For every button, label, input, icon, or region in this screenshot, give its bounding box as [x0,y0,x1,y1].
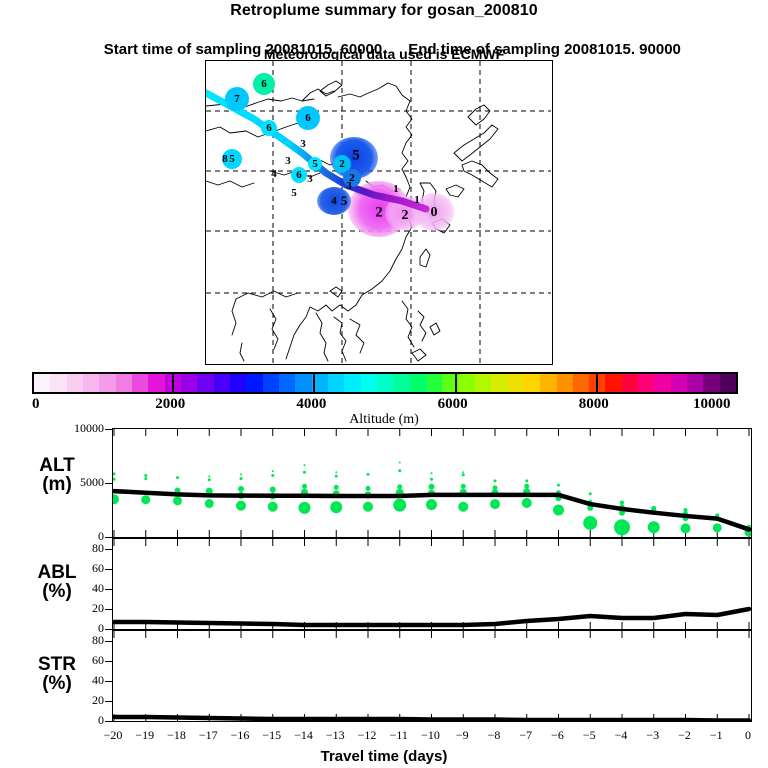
alt-label-top: ALT [8,456,106,475]
y-tick-label: 5000 [62,475,104,490]
altitude-bubble [270,486,276,492]
y-tick-mark [105,641,112,642]
map-day-marker: 6 [296,106,320,130]
y-tick-label: 40 [62,673,104,688]
x-tick-label: −3 [638,728,668,743]
map-day-label: 0 [431,205,438,221]
x-tick-label: −8 [479,728,509,743]
map-day-label: 3 [307,173,313,185]
colorbar-tick-label: 6000 [438,396,468,413]
x-tick-label: −13 [320,728,350,743]
altitude-bubble [399,461,401,463]
map-day-label: 5 [352,148,360,165]
altitude-bubble [205,499,214,508]
altitude-bubble [557,484,560,487]
y-tick-label: 20 [62,693,104,708]
map-day-label: 2 [375,205,383,222]
map-day-label: 3 [285,155,291,167]
y-tick-mark [105,569,112,570]
altitude-bubble [240,473,242,475]
map-day-label: 8 [222,153,228,165]
altitude-bubble [113,472,116,475]
map-day-marker: 5 [308,157,322,171]
altitude-bubble [620,500,624,504]
altitude-bubble [651,506,656,511]
altitude-bubble [681,523,691,533]
altitude-bubble [335,474,338,477]
y-tick-mark [105,701,112,702]
altitude-bubble [299,502,311,514]
altitude-bubble [614,519,630,535]
altitude-bubble [461,484,466,489]
altitude-bubble [236,501,246,511]
abl-panel [112,538,752,630]
y-tick-mark [105,483,112,484]
altitude-bubble [173,496,182,505]
x-tick-label: −7 [511,728,541,743]
altitude-bubble [462,471,464,473]
x-tick-label: −18 [162,728,192,743]
map-day-label: 5 [341,193,348,209]
map-day-label: 4 [331,195,337,207]
page-title: Retroplume summary for gosan_200810 [0,2,768,20]
alt-panel [112,428,752,538]
x-tick-label: −12 [352,728,382,743]
x-tick-label: −6 [543,728,573,743]
y-tick-mark [105,629,112,630]
altitude-bubble [431,472,433,474]
altitude-bubble [589,492,592,495]
altitude-bubble [393,499,406,512]
altitude-bubble [113,478,116,481]
altitude-bubble [335,471,337,473]
altitude-bubble [144,474,147,477]
x-tick-label: −2 [670,728,700,743]
altitude-bubble [268,502,278,512]
altitude-bubble [367,473,370,476]
y-tick-label: 20 [62,601,104,616]
colorbar-tick-label: 10000 [693,396,731,413]
y-tick-label: 0 [62,713,104,728]
altitude-bubble [522,498,532,508]
altitude-bubble [366,486,371,491]
y-tick-mark [105,609,112,610]
x-tick-label: −20 [98,728,128,743]
altitude-bubble [363,502,373,512]
map-day-marker: 6 [291,167,307,183]
y-tick-label: 10000 [62,421,104,436]
x-tick-label: −19 [130,728,160,743]
alt-plot [113,429,751,537]
altitude-bubble [713,523,722,532]
colorbar-divider [313,372,315,394]
altitude-bubble [490,499,500,509]
y-tick-label: 40 [62,581,104,596]
altitude-bubble [144,477,147,480]
y-tick-mark [105,429,112,430]
x-tick-label: −17 [193,728,223,743]
altitude-bubble [334,485,339,490]
altitude-bubble [583,516,597,530]
y-tick-mark [105,537,112,538]
retroplume-map: 6 7 6 6 3 5 8 3 5 4 6 3 5 5 2 2 4 5 3 1 … [205,60,553,365]
altitude-bubble [113,494,119,504]
x-tick-label: −11 [384,728,414,743]
altitude-bubble [330,501,342,513]
y-tick-mark [105,721,112,722]
x-axis-label: Travel time (days) [0,748,768,765]
altitude-bubble [208,476,210,478]
map-day-label: 2 [402,208,409,224]
map-day-label: 1 [414,194,420,206]
altitude-bubble [141,495,150,504]
colorbar-tick-label: 4000 [296,396,326,413]
colorbar-tick-label: 0 [32,396,40,413]
altitude-bubble [302,484,307,489]
altitude-bubble [398,469,401,472]
x-tick-label: −4 [606,728,636,743]
map-day-marker: 6 [261,120,277,136]
colorbar-divider [455,372,457,394]
y-tick-label: 60 [62,653,104,668]
map-day-marker: 6 [253,73,275,95]
altitude-bubble [397,484,402,489]
altitude-bubble [426,499,437,510]
altitude-bubble [272,470,274,472]
y-tick-label: 80 [62,633,104,648]
altitude-bubble [429,484,435,490]
map-day-label: 3 [346,180,352,192]
y-tick-mark [105,549,112,550]
abl-plot [113,539,751,629]
colorbar-divider [596,372,598,394]
map-day-label: 3 [300,138,306,150]
colorbar-divider [172,372,174,394]
x-tick-label: −5 [574,728,604,743]
altitude-bubble [271,474,274,477]
map-day-label: 1 [393,183,399,195]
altitude-bubble [238,486,244,492]
y-tick-mark [105,681,112,682]
y-tick-mark [105,589,112,590]
altitude-bubble [553,505,564,516]
colorbar-dividers [32,372,738,394]
altitude-bubble [525,479,528,482]
y-tick-mark [105,661,112,662]
altitude-bubble [493,485,498,490]
altitude-bubble [303,471,306,474]
altitude-bubble [462,473,465,476]
x-tick-label: −1 [701,728,731,743]
altitude-bubble [304,464,306,466]
y-tick-label: 60 [62,561,104,576]
x-tick-label: −10 [416,728,446,743]
altitude-bubble [494,479,497,482]
map-day-label: 4 [271,168,277,180]
x-tick-label: −16 [225,728,255,743]
altitude-bubble [430,478,433,481]
altitude-bubble [524,484,529,489]
altitude-bubble [240,477,243,480]
map-day-marker: 7 [225,87,249,111]
colorbar-label: Altitude (m) [0,412,768,428]
altitude-bubble [648,521,660,533]
str-panel [112,630,752,722]
map-day-label: 5 [291,187,297,199]
colorbar-tick-label: 8000 [579,396,609,413]
altitude-bubble [684,508,688,512]
y-tick-label: 80 [62,541,104,556]
altitude-bubble [458,502,468,512]
altitude-bubble [208,478,211,481]
altitude-bubble [176,476,179,479]
x-tick-label: −15 [257,728,287,743]
colorbar-tick-label: 2000 [155,396,185,413]
x-tick-label: 0 [733,728,763,743]
retroplume-figure: Retroplume summary for gosan_200810 Star… [0,0,768,768]
x-tick-label: −14 [289,728,319,743]
x-tick-label: −9 [447,728,477,743]
str-plot [113,631,751,721]
